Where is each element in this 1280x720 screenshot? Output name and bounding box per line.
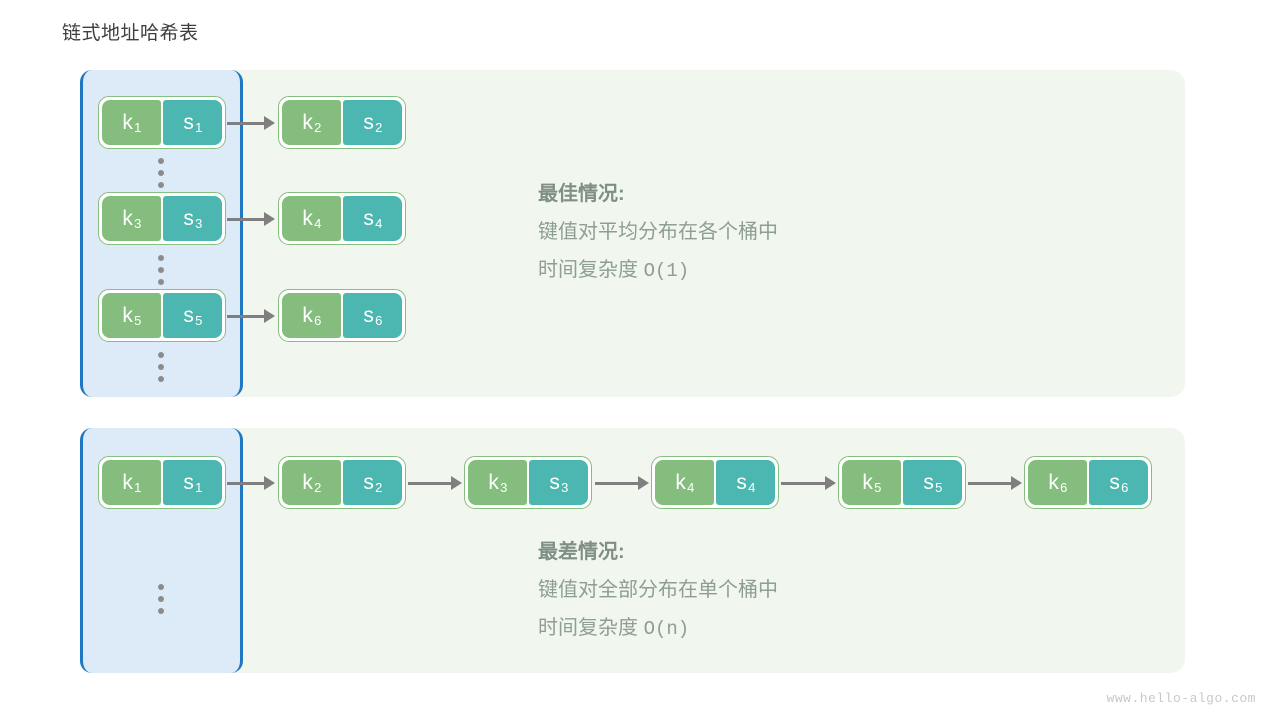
vertical-ellipsis-icon xyxy=(158,158,164,188)
complexity-label: 时间复杂度 xyxy=(538,617,638,639)
node-chained-1[interactable]: k2 s2 xyxy=(278,96,406,149)
complexity-label: 时间复杂度 xyxy=(538,259,638,281)
node-value-cell: s3 xyxy=(529,460,588,505)
node-key-cell: k4 xyxy=(655,460,714,505)
node-value-cell: s5 xyxy=(903,460,962,505)
node-chain-2[interactable]: k2 s2 xyxy=(278,456,406,509)
caption-line-1: 键值对全部分布在单个桶中 xyxy=(538,571,778,609)
node-chained-3[interactable]: k6 s6 xyxy=(278,289,406,342)
node-chain-5[interactable]: k5 s5 xyxy=(838,456,966,509)
vertical-ellipsis-icon xyxy=(158,352,164,382)
node-value-cell: s4 xyxy=(343,196,402,241)
node-value-cell: s6 xyxy=(1089,460,1148,505)
caption-heading: 最差情况: xyxy=(538,533,778,571)
node-key-cell: k3 xyxy=(102,196,161,241)
node-key-cell: k6 xyxy=(1028,460,1087,505)
node-key-cell: k4 xyxy=(282,196,341,241)
node-chain-4[interactable]: k4 s4 xyxy=(651,456,779,509)
complexity-value: O(n) xyxy=(644,618,690,640)
complexity-value: O(1) xyxy=(644,260,690,282)
node-value-cell: s3 xyxy=(163,196,222,241)
node-value-cell: s5 xyxy=(163,293,222,338)
node-key-cell: k2 xyxy=(282,460,341,505)
caption-line-1: 键值对平均分布在各个桶中 xyxy=(538,213,778,251)
node-key-cell: k3 xyxy=(468,460,527,505)
node-bucket-3[interactable]: k5 s5 xyxy=(98,289,226,342)
caption-line-2: 时间复杂度 O(1) xyxy=(538,251,778,290)
node-bucket-2[interactable]: k3 s3 xyxy=(98,192,226,245)
node-key-cell: k1 xyxy=(102,460,161,505)
node-chain-6[interactable]: k6 s6 xyxy=(1024,456,1152,509)
node-value-cell: s6 xyxy=(343,293,402,338)
node-value-cell: s1 xyxy=(163,100,222,145)
watermark: www.hello-algo.com xyxy=(1107,691,1256,706)
node-chained-2[interactable]: k4 s4 xyxy=(278,192,406,245)
node-value-cell: s2 xyxy=(343,100,402,145)
best-case-caption: 最佳情况: 键值对平均分布在各个桶中 时间复杂度 O(1) xyxy=(538,175,778,290)
node-key-cell: k1 xyxy=(102,100,161,145)
node-value-cell: s1 xyxy=(163,460,222,505)
vertical-ellipsis-icon xyxy=(158,255,164,285)
node-key-cell: k5 xyxy=(842,460,901,505)
page-title: 链式地址哈希表 xyxy=(62,18,199,45)
caption-line-2: 时间复杂度 O(n) xyxy=(538,609,778,648)
node-key-cell: k6 xyxy=(282,293,341,338)
node-value-cell: s2 xyxy=(343,460,402,505)
node-chain-1[interactable]: k1 s1 xyxy=(98,456,226,509)
node-key-cell: k2 xyxy=(282,100,341,145)
node-chain-3[interactable]: k3 s3 xyxy=(464,456,592,509)
worst-case-caption: 最差情况: 键值对全部分布在单个桶中 时间复杂度 O(n) xyxy=(538,533,778,648)
node-bucket-1[interactable]: k1 s1 xyxy=(98,96,226,149)
caption-heading: 最佳情况: xyxy=(538,175,778,213)
node-value-cell: s4 xyxy=(716,460,775,505)
node-key-cell: k5 xyxy=(102,293,161,338)
vertical-ellipsis-icon xyxy=(158,584,164,614)
